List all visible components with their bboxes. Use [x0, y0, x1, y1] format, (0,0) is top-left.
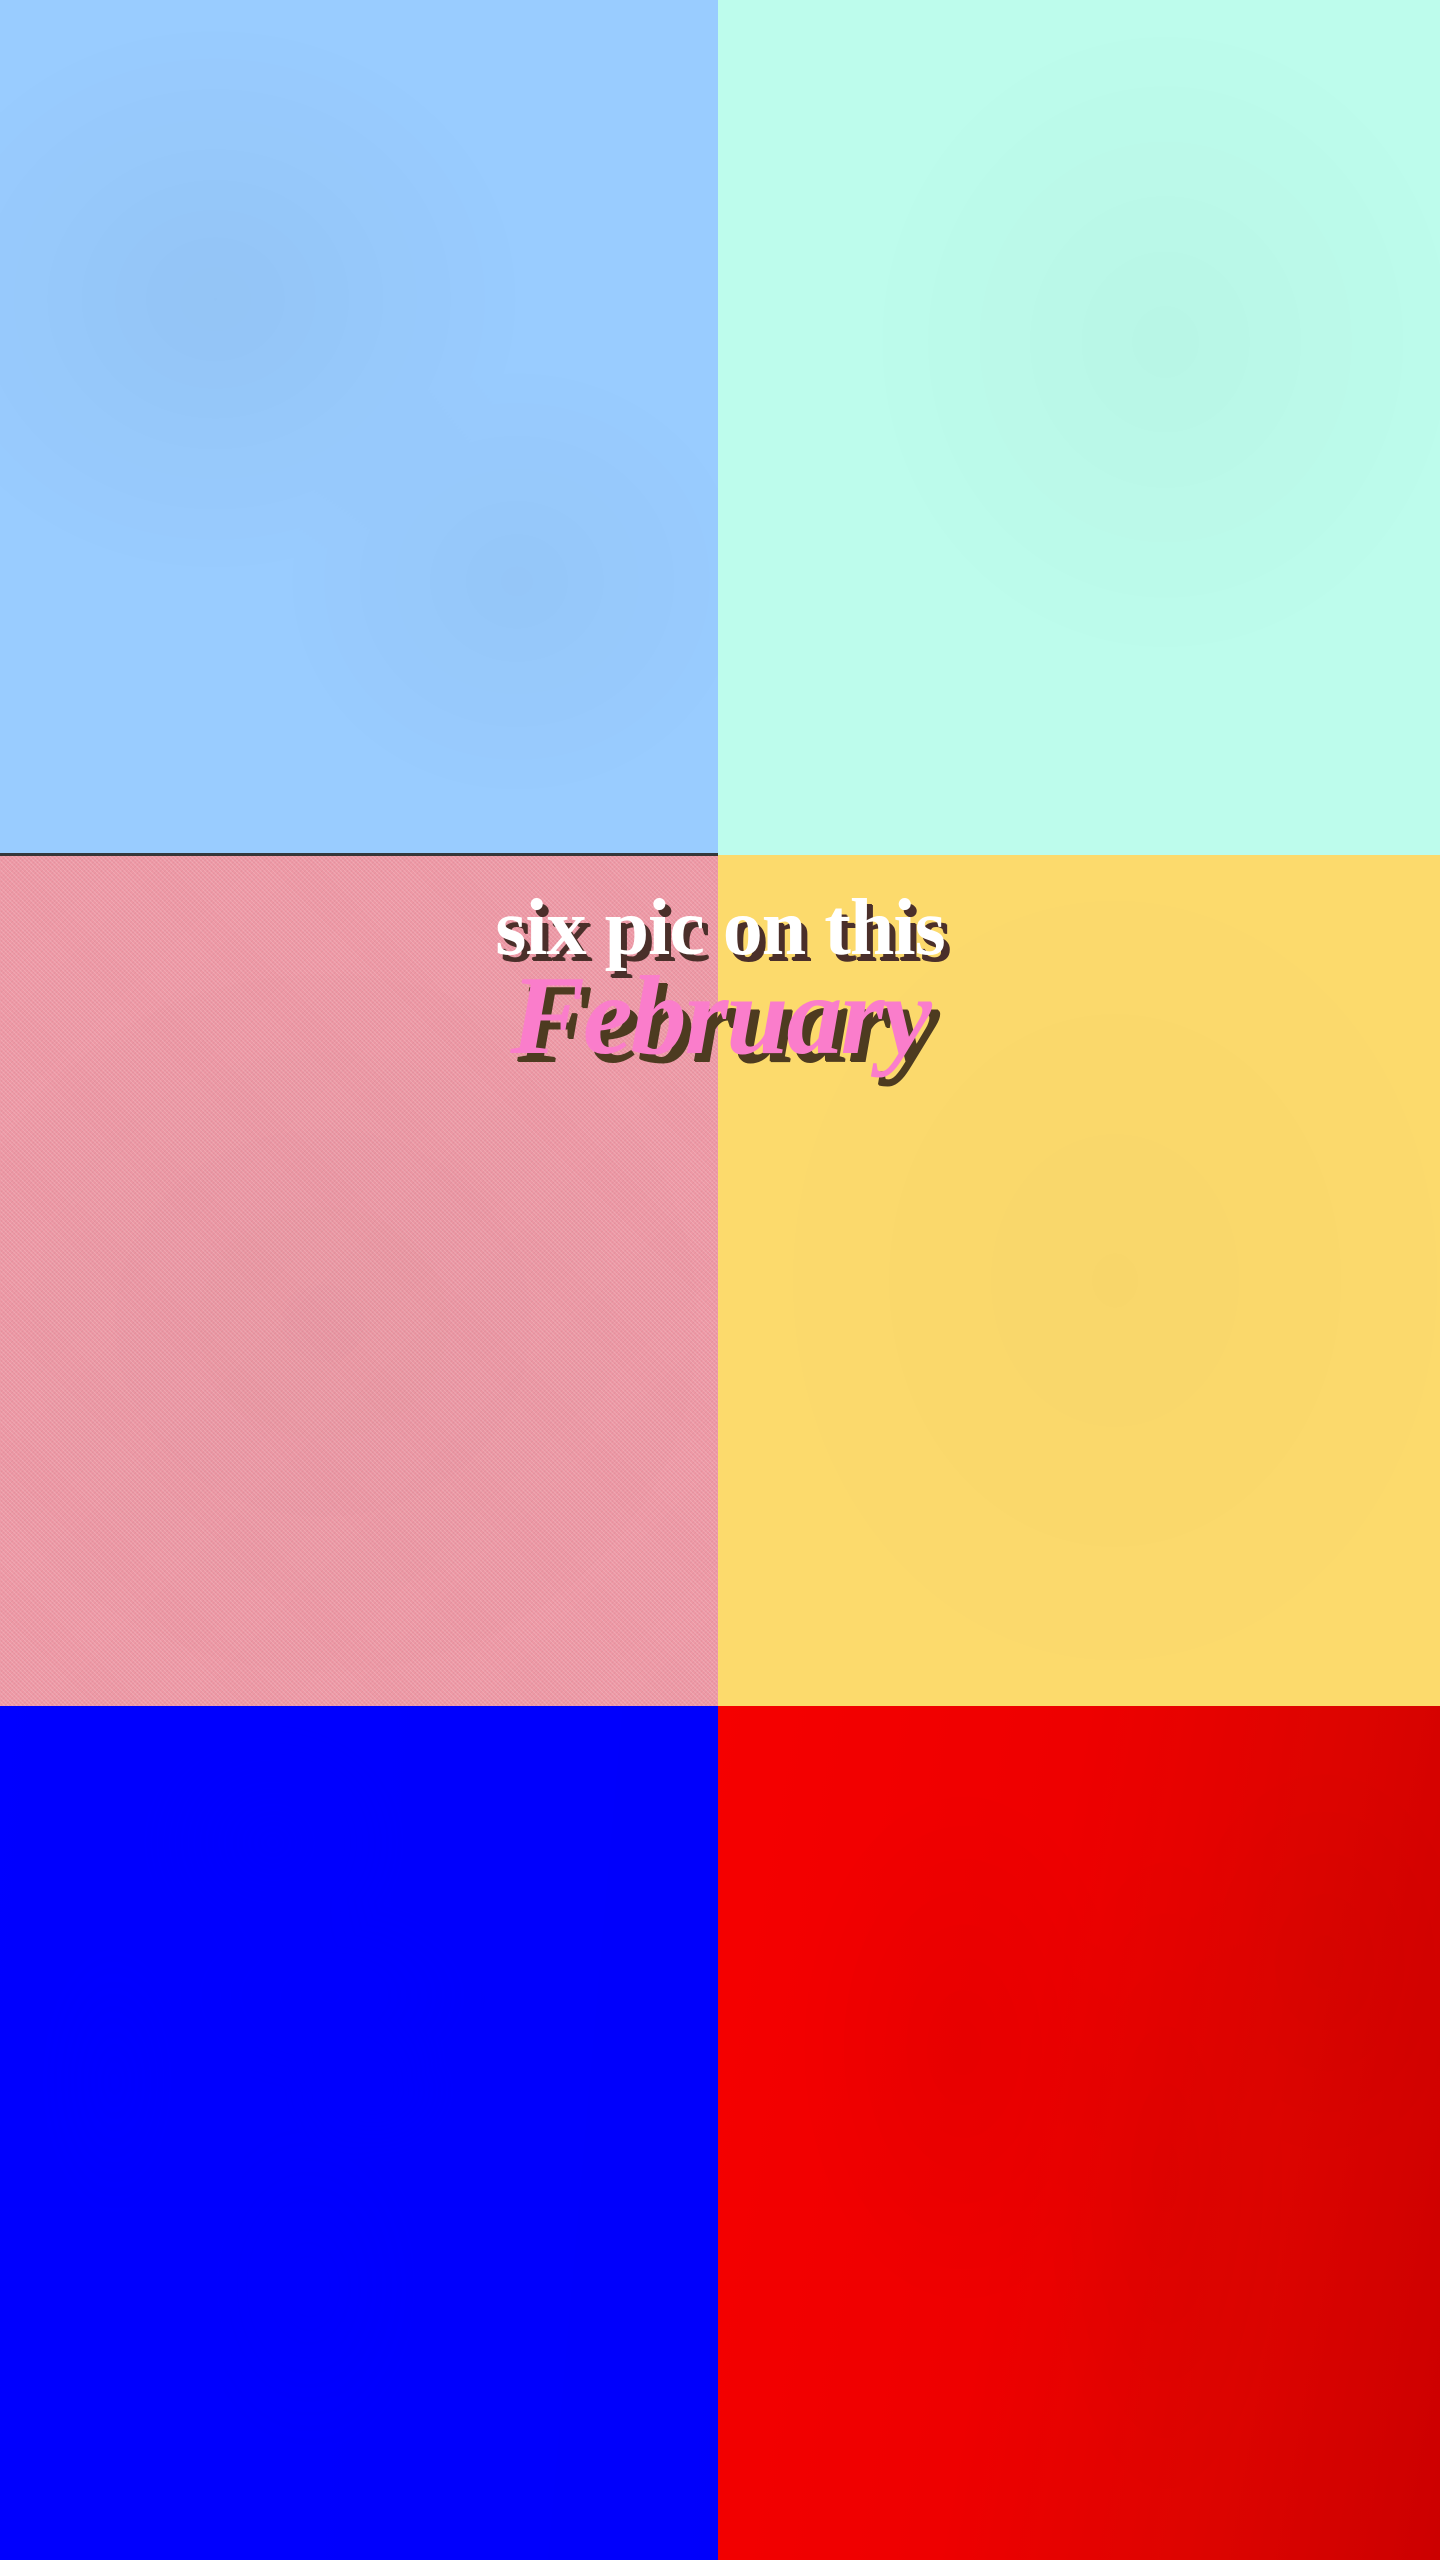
photo-cell-bottom-left[interactable] [0, 1706, 718, 2560]
photo-cell-bottom-right[interactable] [718, 1706, 1440, 2560]
photo-grid [0, 0, 1440, 2560]
photo-ghost-bottom-left [0, 1706, 718, 2560]
fabric-texture-pink [0, 855, 718, 1706]
photo-ghost-top-right [718, 0, 1440, 855]
photo-cell-top-left[interactable] [0, 0, 718, 855]
photo-ghost-bottom-right [718, 1706, 1440, 2560]
photo-cell-top-right[interactable] [718, 0, 1440, 855]
photo-cell-middle-right[interactable] [718, 855, 1440, 1706]
photo-ghost-middle-left [0, 855, 718, 1706]
photo-collage: six pic on this February [0, 0, 1440, 2560]
photo-ghost-middle-right [718, 855, 1440, 1706]
photo-cell-middle-left[interactable] [0, 855, 718, 1706]
photo-ghost-top-left [0, 0, 718, 855]
